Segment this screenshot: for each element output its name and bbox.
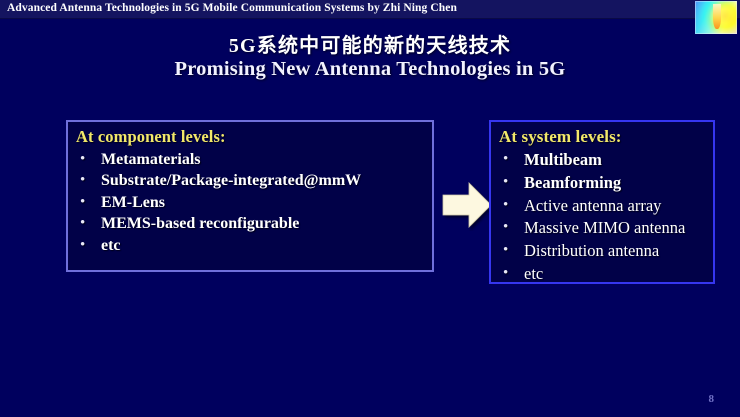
bullet-icon: •	[80, 149, 85, 169]
bullet-icon: •	[80, 170, 85, 190]
panel-system-heading: At system levels:	[491, 122, 713, 149]
system-level-item: •Distribution antenna	[499, 240, 713, 263]
system-level-item: •Multibeam	[499, 149, 713, 172]
component-level-item: •Metamaterials	[76, 149, 432, 170]
bullet-icon: •	[503, 240, 508, 261]
bullet-icon: •	[80, 213, 85, 233]
system-level-item-label: Massive MIMO antenna	[524, 218, 685, 237]
right-arrow-icon	[441, 179, 493, 231]
system-level-item-label: Multibeam	[524, 150, 602, 169]
component-level-item-label: Metamaterials	[101, 151, 201, 168]
component-level-item-label: EM-Lens	[101, 194, 165, 211]
slide-title-chinese: 5G系统中可能的新的天线技术	[0, 29, 740, 58]
presentation-slide: Advanced Antenna Technologies in 5G Mobi…	[0, 0, 740, 417]
bullet-icon: •	[503, 217, 508, 238]
component-level-item: •MEMS-based reconfigurable	[76, 213, 432, 234]
component-level-item: •etc	[76, 235, 432, 256]
slide-title-english: Promising New Antenna Technologies in 5G	[0, 58, 740, 81]
panel-component-heading: At component levels:	[68, 122, 432, 149]
component-level-item: •Substrate/Package-integrated@mmW	[76, 170, 432, 191]
bullet-icon: •	[503, 149, 508, 170]
bullet-icon: •	[80, 192, 85, 212]
page-number: 8	[709, 393, 715, 405]
bullet-icon: •	[503, 263, 508, 284]
system-level-item: •Active antenna array	[499, 195, 713, 218]
bullet-icon: •	[80, 235, 85, 255]
panel-component-list: •Metamaterials•Substrate/Package-integra…	[68, 149, 432, 256]
system-level-item-label: Active antenna array	[524, 196, 661, 215]
system-level-item: •Massive MIMO antenna	[499, 217, 713, 240]
system-level-item-label: etc	[524, 264, 543, 283]
component-level-item-label: Substrate/Package-integrated@mmW	[101, 172, 361, 189]
component-level-item: •EM-Lens	[76, 192, 432, 213]
panel-system-list: •Multibeam•Beamforming•Active antenna ar…	[491, 149, 713, 286]
panel-system-levels: At system levels: •Multibeam•Beamforming…	[489, 120, 715, 284]
system-level-item: •Beamforming	[499, 172, 713, 195]
component-level-item-label: etc	[101, 237, 121, 254]
component-level-item-label: MEMS-based reconfigurable	[101, 215, 299, 232]
system-level-item-label: Beamforming	[524, 173, 621, 192]
system-level-item-label: Distribution antenna	[524, 241, 659, 260]
slide-header-banner: Advanced Antenna Technologies in 5G Mobi…	[0, 0, 740, 19]
panel-component-levels: At component levels: •Metamaterials•Subs…	[66, 120, 434, 272]
bullet-icon: •	[503, 195, 508, 216]
bullet-icon: •	[503, 172, 508, 193]
system-level-item: •etc	[499, 263, 713, 286]
presentation-title: Advanced Antenna Technologies in 5G Mobi…	[7, 2, 457, 14]
